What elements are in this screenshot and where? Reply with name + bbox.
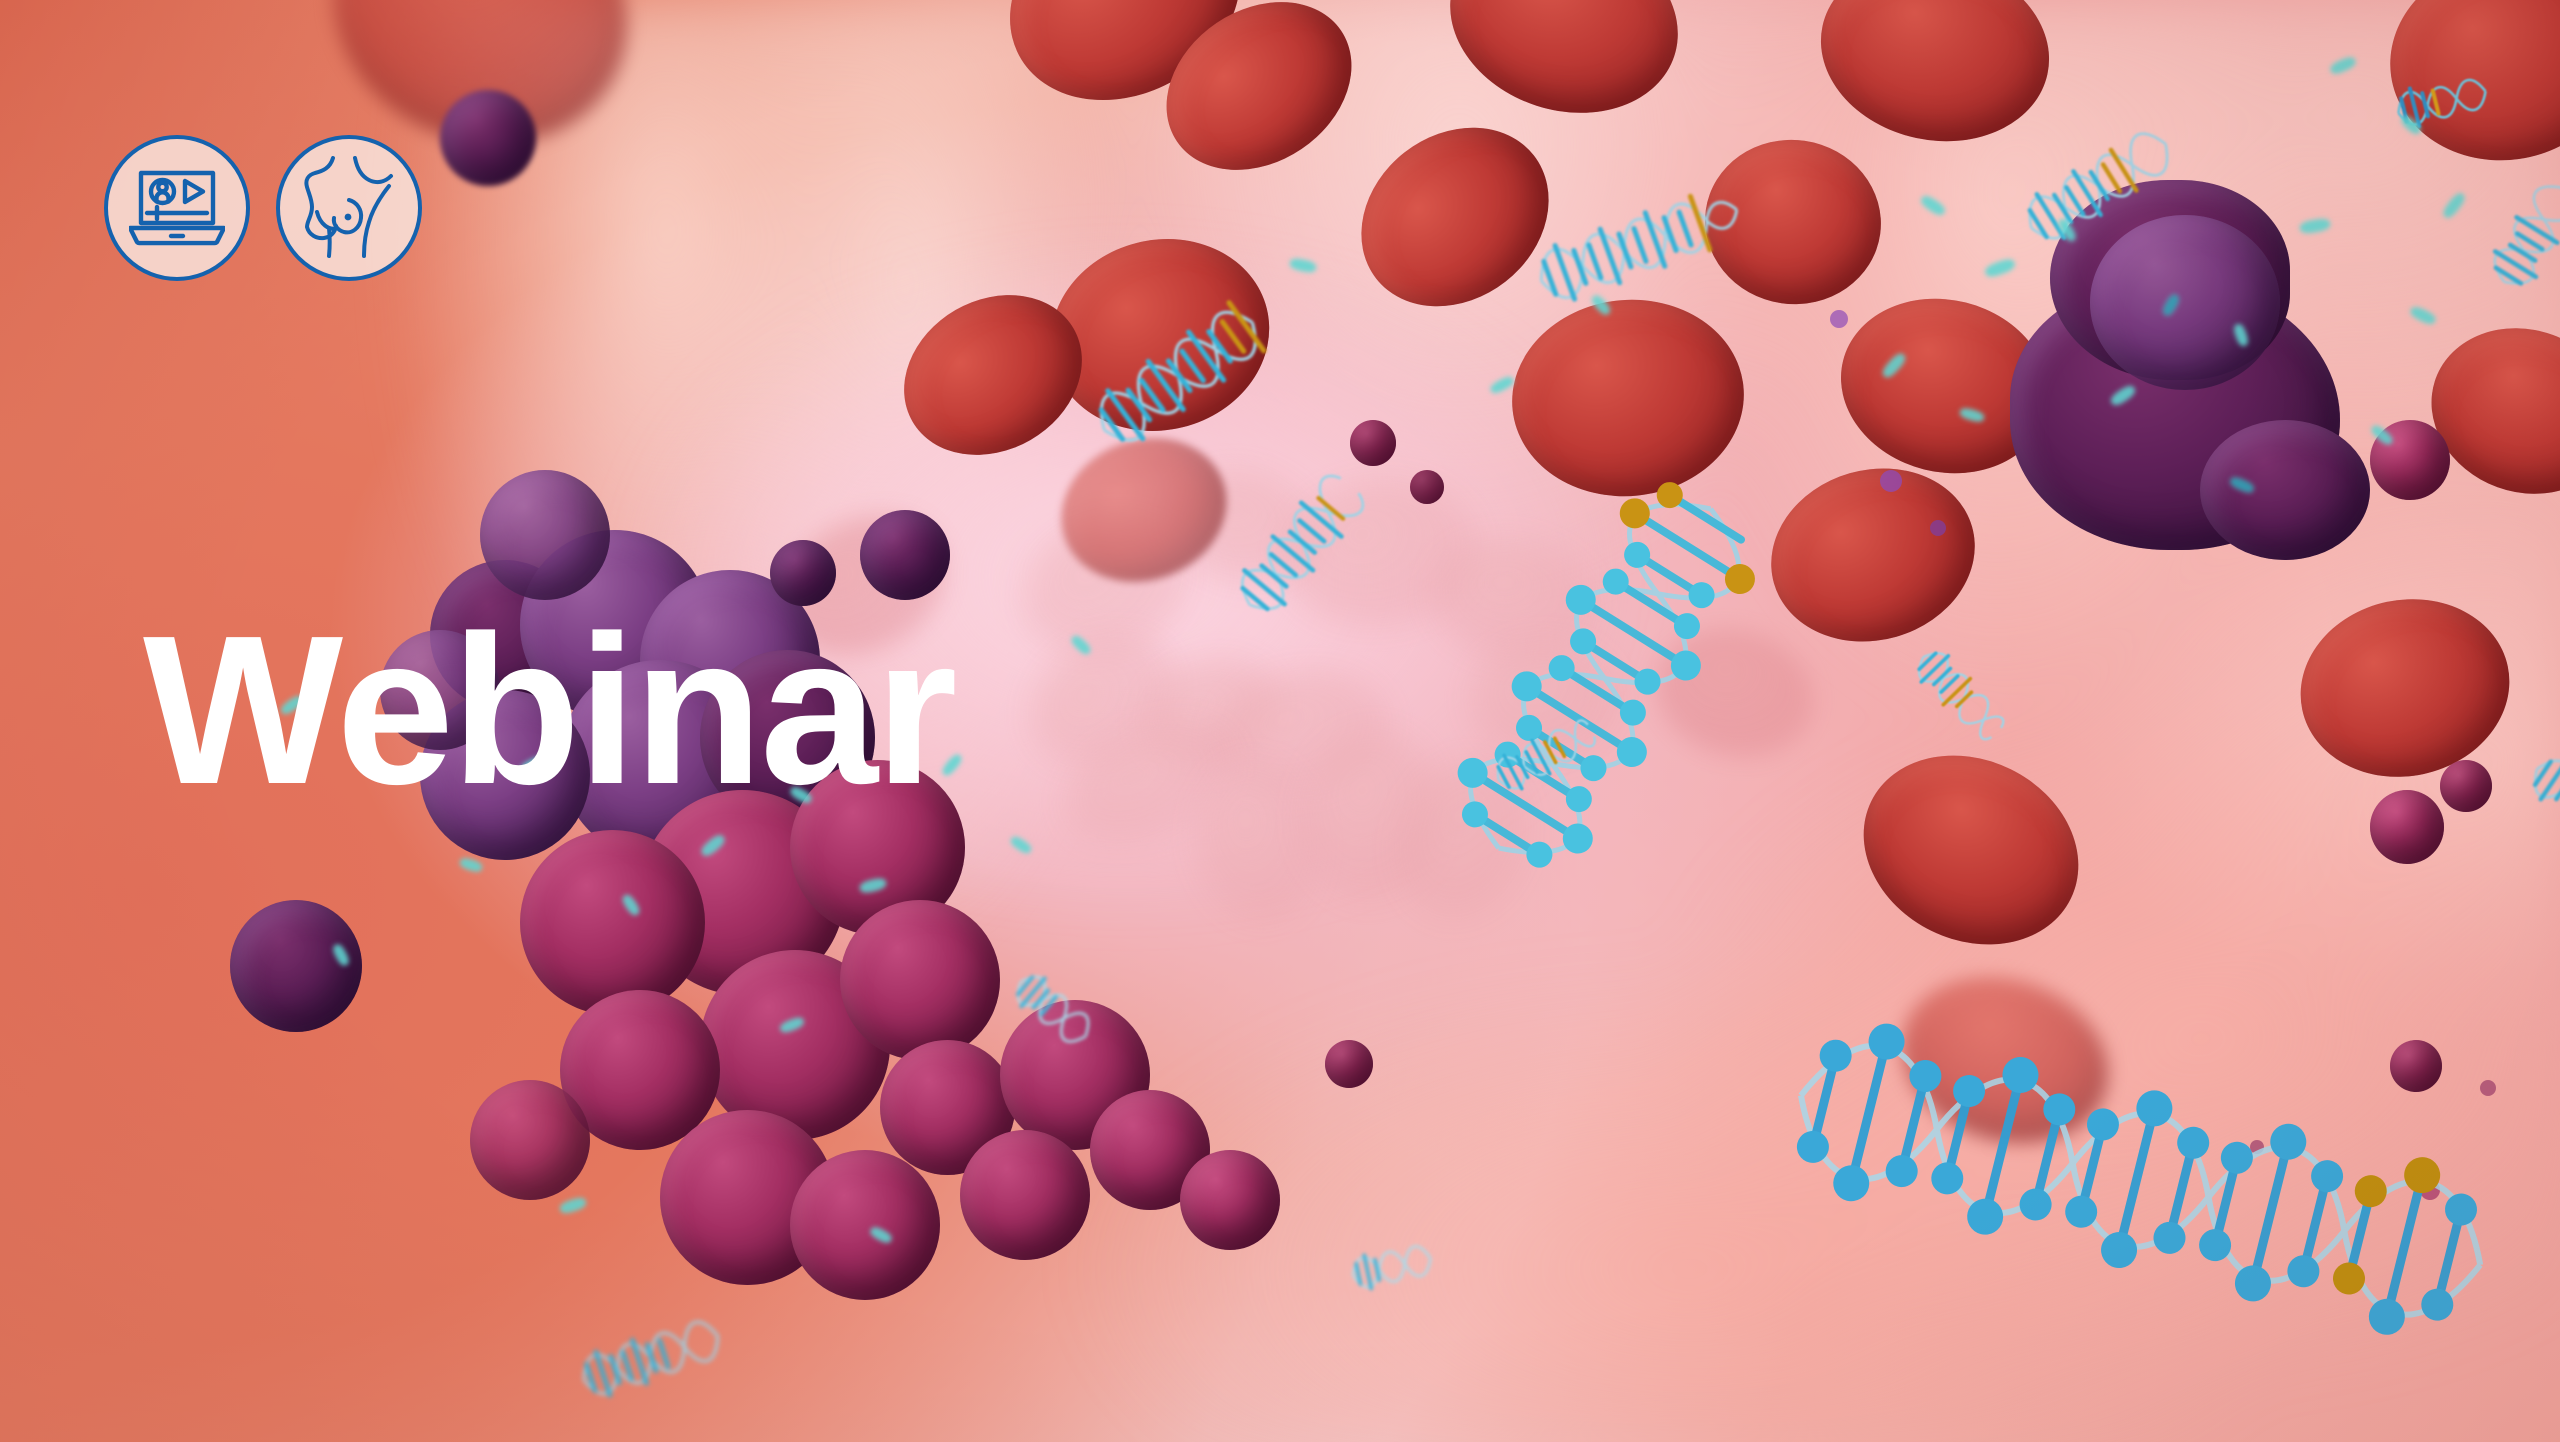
page-title: Webinar	[143, 604, 954, 816]
badge-group	[104, 135, 422, 281]
badge-webinar[interactable]	[104, 135, 250, 281]
breast-torso-icon	[299, 156, 399, 260]
webinar-laptop-icon	[129, 170, 225, 246]
badge-breast[interactable]	[276, 135, 422, 281]
webinar-banner: Webinar	[0, 0, 2560, 1442]
